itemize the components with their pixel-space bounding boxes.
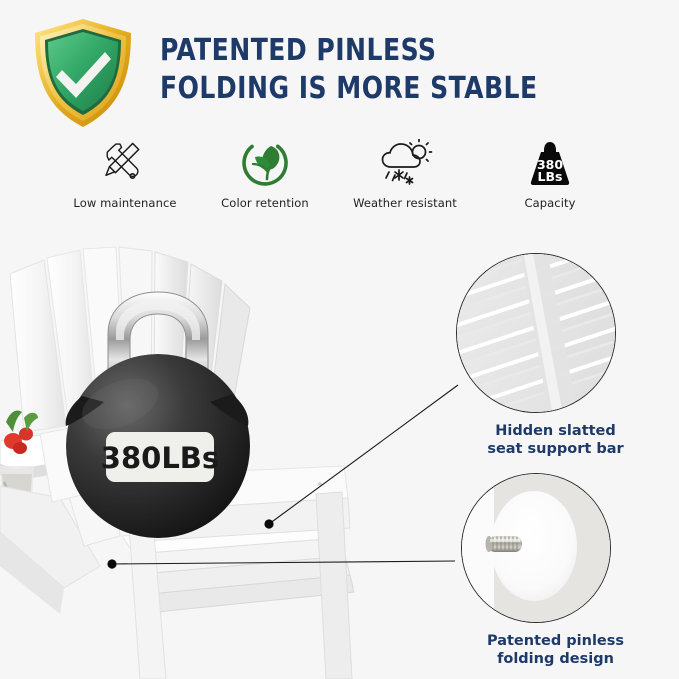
cloud-sun-rain-snow-icon [377, 138, 433, 188]
callout-label-line-2: seat support bar [443, 441, 668, 459]
leaf-circle-icon [240, 138, 290, 188]
feature-item-low-maintenance: Low maintenance [50, 138, 200, 220]
callout-hidden-slatted-seat-support-bar: Hidden slatted seat support bar [443, 253, 668, 459]
header-section: PATENTED PINLESS FOLDING IS MORE STABLE [0, 0, 679, 135]
headline-line-1: PATENTED PINLESS [160, 32, 625, 70]
feature-item-color-retention: Color retention [190, 138, 340, 220]
feature-label: Low maintenance [73, 196, 176, 210]
feature-row: Low maintenance Color retention [0, 138, 679, 220]
callout-label-line-1: Hidden slatted [443, 423, 668, 441]
zoom-circle-slatted-support-bar [456, 253, 616, 413]
callout-label: Hidden slatted seat support bar [443, 423, 668, 459]
product-photo-adirondack-chair: 380LBs [0, 236, 440, 679]
callout-label-line-1: Patented pinless [443, 633, 668, 651]
weight-capacity-icon: 380 LBs [524, 138, 576, 188]
infographic-canvas: PATENTED PINLESS FOLDING IS MORE STABLE … [0, 0, 679, 679]
feature-label: Color retention [221, 196, 309, 210]
zoom-circle-pinless-folding-pin [461, 473, 611, 623]
shield-check-icon [28, 14, 138, 132]
kettlebell-weight-label: 380LBs [101, 441, 219, 475]
feature-item-capacity: 380 LBs Capacity [475, 138, 625, 220]
tools-wrench-screwdriver-icon [100, 138, 150, 188]
page-title: PATENTED PINLESS FOLDING IS MORE STABLE [160, 32, 625, 108]
callout-label-line-2: folding design [443, 651, 668, 669]
callout-label: Patented pinless folding design [443, 633, 668, 669]
feature-item-weather-resistant: Weather resistant [330, 138, 480, 220]
callout-patented-pinless-folding-design: Patented pinless folding design [443, 473, 668, 669]
feature-label: Capacity [524, 196, 575, 210]
weight-unit: LBs [538, 169, 563, 184]
feature-label: Weather resistant [353, 196, 457, 210]
headline-line-2: FOLDING IS MORE STABLE [160, 70, 625, 108]
